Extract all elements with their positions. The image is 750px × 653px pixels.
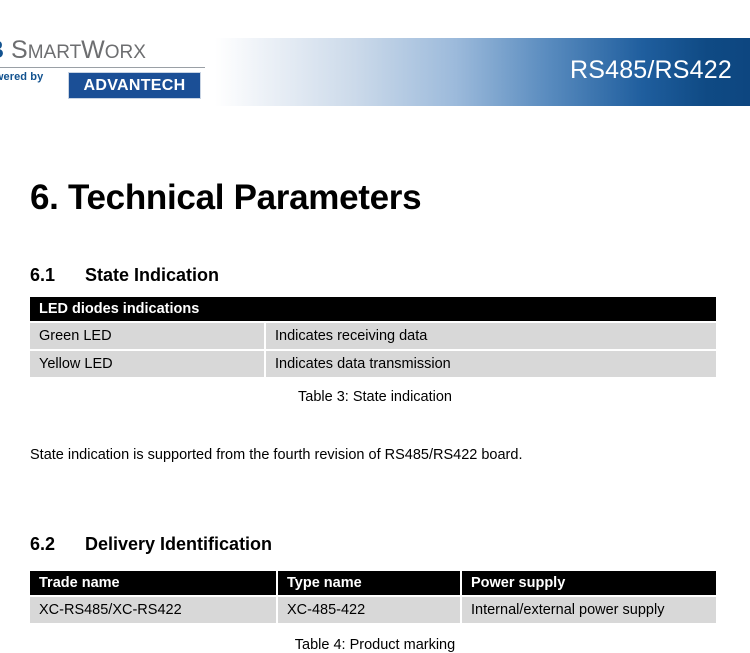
table-cell-type-name-value: XC-485-422 <box>278 595 462 623</box>
table-header-cell-type-name: Type name <box>278 571 462 595</box>
page-header: RS485/RS422 B SMARTWORX owered by ADVANT… <box>0 0 750 106</box>
powered-by-label: owered by <box>0 71 43 83</box>
section-number-6-1: 6.1 <box>30 265 85 286</box>
advantech-logo-text: ADVANTECH <box>69 73 200 98</box>
state-indication-table: LED diodes indications Green LED Indicat… <box>30 297 716 377</box>
brand-logo-divider <box>0 67 205 68</box>
table-cell-green-led-name: Green LED <box>30 321 266 349</box>
table-row: Green LED Indicates receiving data <box>30 321 716 349</box>
section-title-6-1: State Indication <box>85 265 219 285</box>
section-heading-6-1: 6.1State Indication <box>30 265 219 286</box>
table-row: XC-RS485/XC-RS422 XC-485-422 Internal/ex… <box>30 595 716 623</box>
section-number-6-2: 6.2 <box>30 534 85 555</box>
table-header-cell-power-supply: Power supply <box>462 571 716 595</box>
brand-logo: B SMARTWORX owered by ADVANTECH <box>0 36 215 106</box>
table-cell-green-led-description: Indicates receiving data <box>266 321 716 349</box>
table-cell-yellow-led-description: Indicates data transmission <box>266 349 716 377</box>
state-indication-note: State indication is supported from the f… <box>30 447 522 463</box>
table-cell-yellow-led-name: Yellow LED <box>30 349 266 377</box>
chapter-heading: 6. Technical Parameters <box>30 178 421 218</box>
advantech-logo-box: ADVANTECH <box>68 72 201 99</box>
brand-logo-wordmark: B SMARTWORX <box>0 36 146 67</box>
table-header-cell-trade-name: Trade name <box>30 571 278 595</box>
table-header-row: LED diodes indications <box>30 297 716 321</box>
document-title: RS485/RS422 <box>570 55 732 85</box>
brand-logo-name: SMARTWORX <box>4 36 146 64</box>
table-row: Yellow LED Indicates data transmission <box>30 349 716 377</box>
section-title-6-2: Delivery Identification <box>85 534 272 554</box>
table-cell-power-supply-value: Internal/external power supply <box>462 595 716 623</box>
table-caption-4: Table 4: Product marking <box>0 637 750 653</box>
section-heading-6-2: 6.2Delivery Identification <box>30 534 272 555</box>
delivery-identification-table: Trade name Type name Power supply XC-RS4… <box>30 571 716 623</box>
table-header-cell-led-diodes-indications: LED diodes indications <box>30 297 716 321</box>
table-header-row: Trade name Type name Power supply <box>30 571 716 595</box>
table-caption-3: Table 3: State indication <box>0 389 750 405</box>
table-cell-trade-name-value: XC-RS485/XC-RS422 <box>30 595 278 623</box>
